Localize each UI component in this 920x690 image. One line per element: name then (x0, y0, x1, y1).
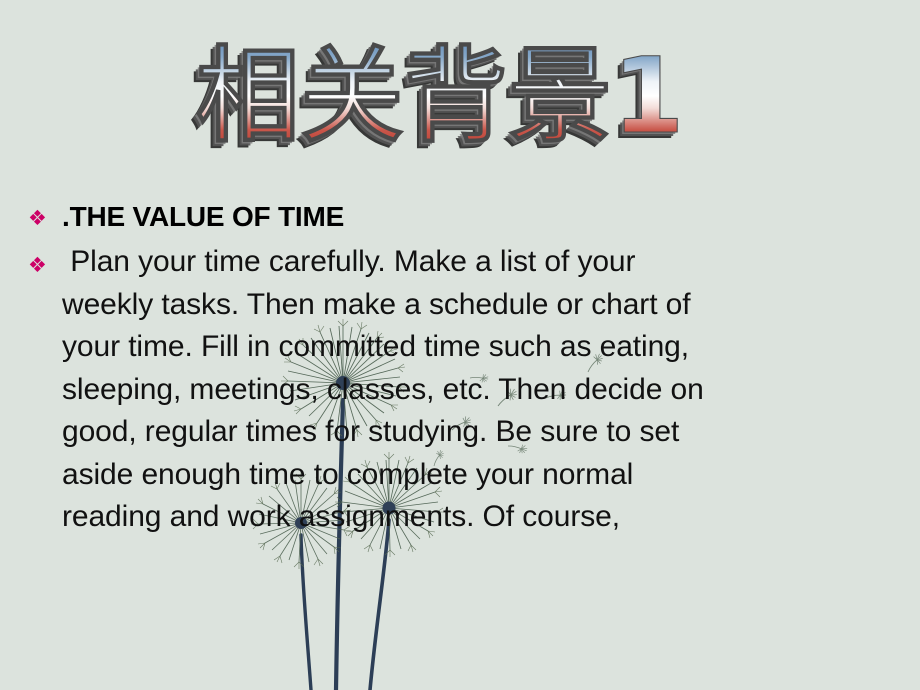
paragraph-text: Plan your time carefully. Make a list of… (62, 241, 704, 539)
diamond-bullet-icon: ❖ (28, 200, 62, 229)
diamond-bullet-icon: ❖ (28, 241, 62, 276)
paragraph-line: sleeping, meetings, classes, etc. Then d… (62, 369, 704, 412)
paragraph-line: weekly tasks. Then make a schedule or ch… (62, 284, 704, 327)
slide-title: 相关背景1 相关背景1 相关背景1 相关背景1 (0, 34, 920, 174)
paragraph-line: good, regular times for studying. Be sur… (62, 411, 704, 454)
slide-body: ❖ .THE VALUE OF TIME ❖ Plan your time ca… (0, 200, 920, 539)
slide-canvas: 相关背景1 相关背景1 相关背景1 相关背景1 ❖ .THE VALUE OF … (0, 0, 920, 690)
paragraph-bullet-row: ❖ Plan your time carefully. Make a list … (0, 241, 920, 539)
paragraph-line: aside enough time to complete your norma… (62, 454, 704, 497)
paragraph-line: reading and work assignments. Of course, (62, 496, 704, 539)
paragraph-line: Plan your time carefully. Make a list of… (62, 241, 704, 284)
heading-text: .THE VALUE OF TIME (62, 200, 344, 233)
title-wordart: 相关背景1 相关背景1 相关背景1 相关背景1 (180, 34, 740, 174)
paragraph-line: your time. Fill in committed time such a… (62, 326, 704, 369)
heading-bullet-row: ❖ .THE VALUE OF TIME (0, 200, 920, 233)
title-face-text: 相关背景1 (196, 35, 684, 157)
